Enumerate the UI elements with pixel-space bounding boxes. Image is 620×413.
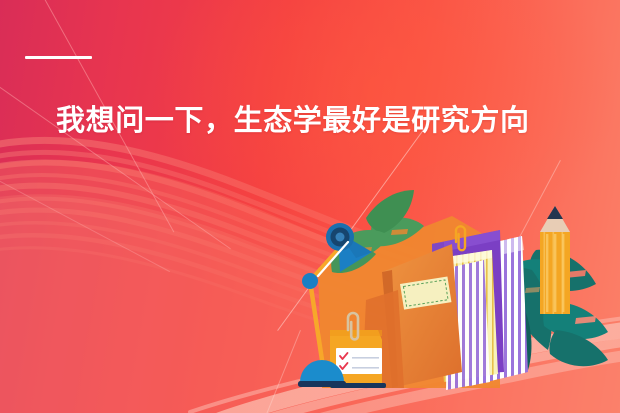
decorative-rule (25, 56, 92, 59)
study-desk-illustration (0, 0, 620, 413)
pencil (540, 206, 570, 314)
page-title: 我想问一下，生态学最好是研究方向 (56, 106, 576, 138)
banner-slide: 我想问一下，生态学最好是研究方向 (0, 0, 620, 413)
